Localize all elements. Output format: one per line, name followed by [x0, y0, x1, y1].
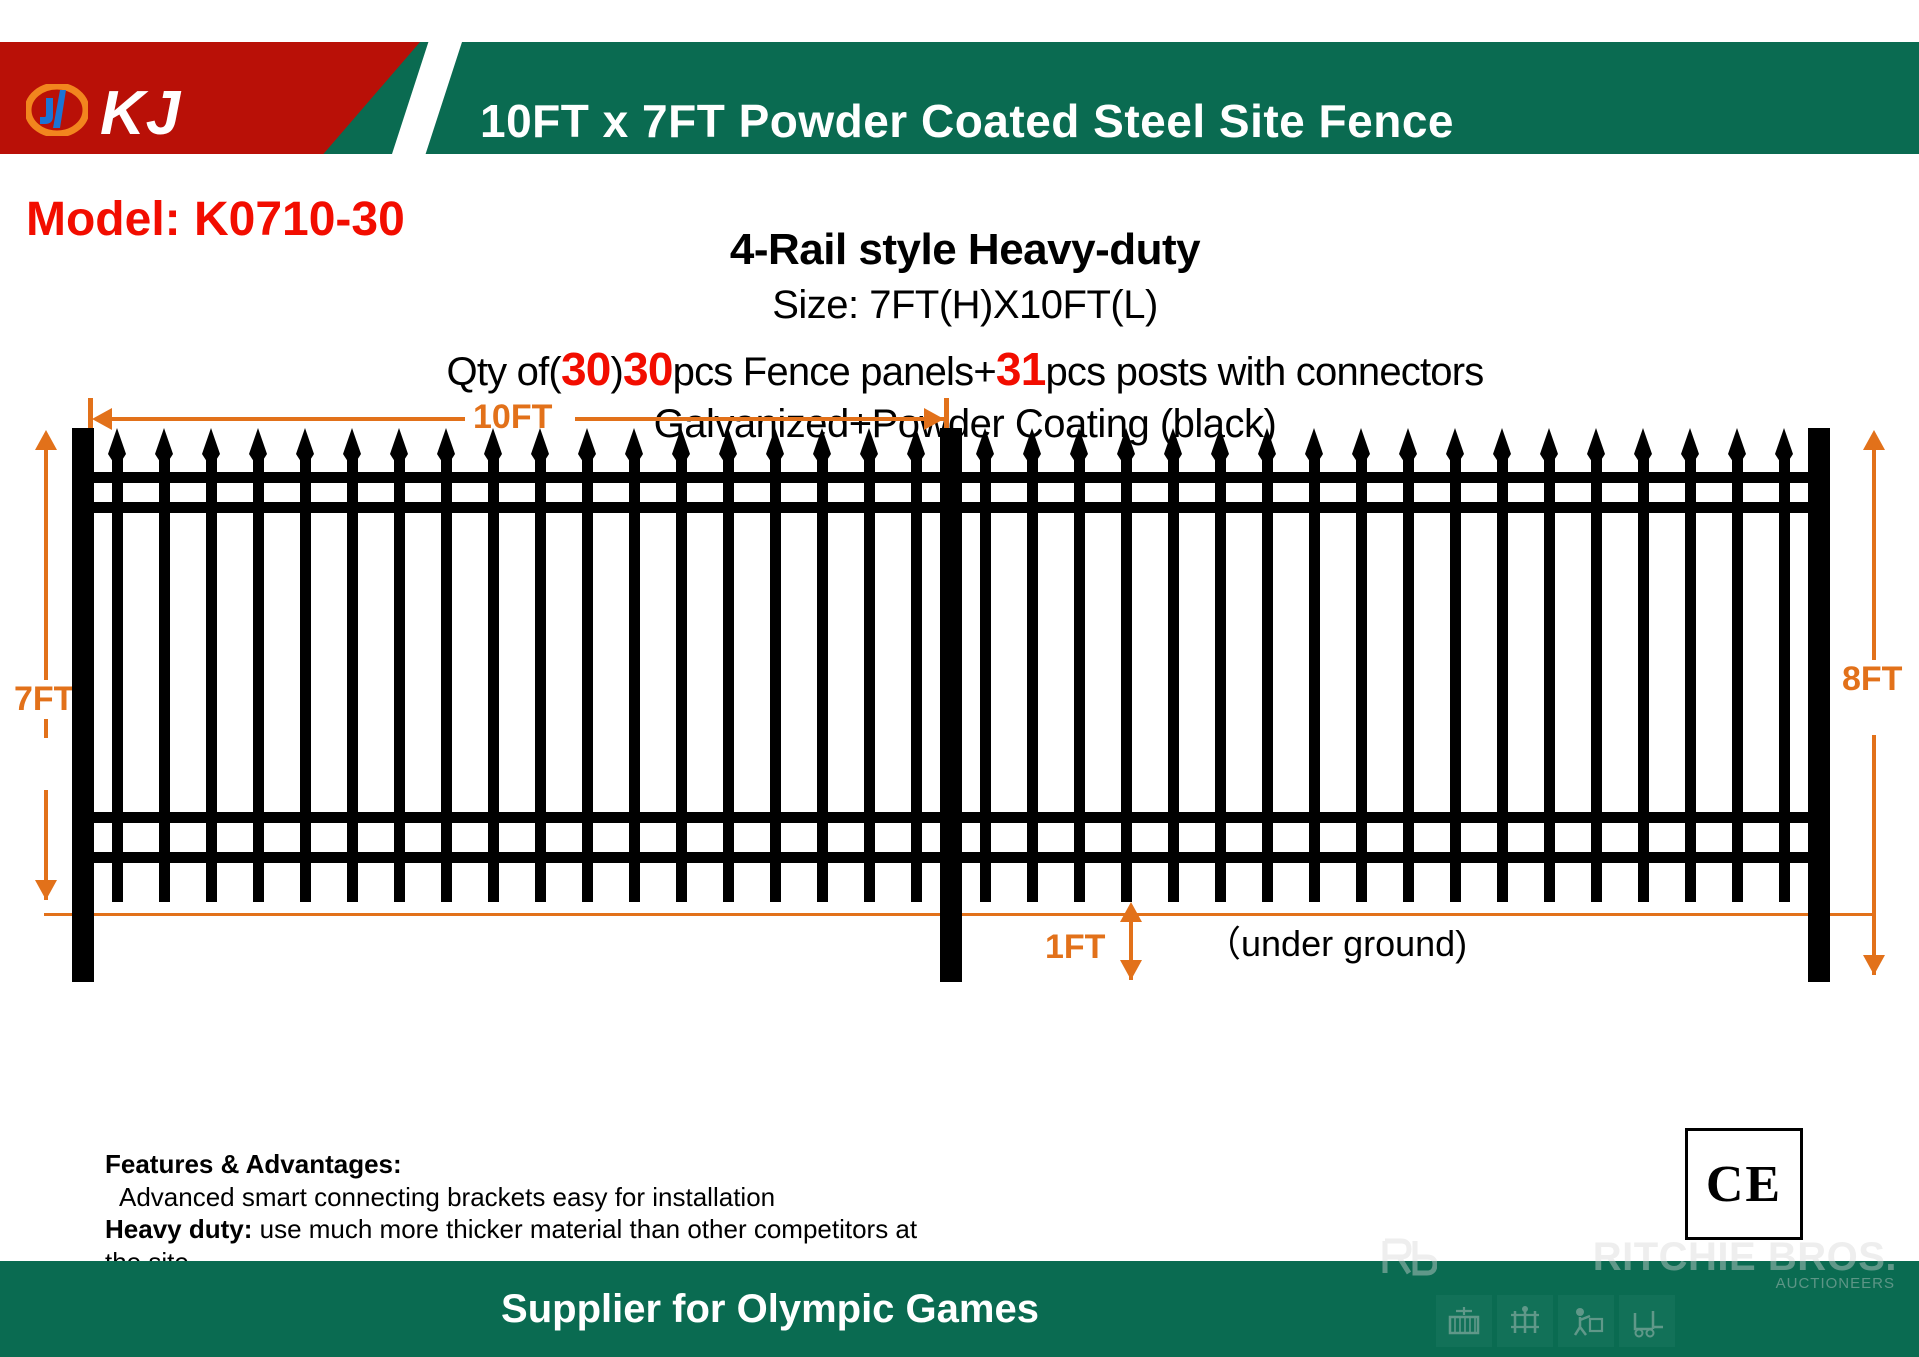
- qty-paren-number: 30: [561, 343, 611, 395]
- picket-spear-tip-p1-6: [343, 428, 361, 454]
- picket-spear-tip-p1-9: [484, 428, 502, 454]
- scaffold-icon: [1497, 1295, 1553, 1347]
- picket-spear-tip-p2-9: [1352, 428, 1370, 454]
- fence-technical-drawing: 10FT 7FT 8FT 1FT （under ground): [0, 390, 1919, 1260]
- fence-picket-stub-p2-16: [1685, 863, 1696, 902]
- fence-post-2: [940, 428, 962, 982]
- dim-arrow-7ft-top: [35, 430, 57, 450]
- fence-picket-stub-p2-5: [1168, 863, 1179, 902]
- fence-picket-p1-10: [535, 452, 546, 852]
- fence-picket-stub-p1-17: [864, 863, 875, 902]
- fence-picket-p2-4: [1121, 452, 1132, 852]
- picket-spear-tip-p2-5: [1164, 428, 1182, 454]
- fence-picket-stub-p2-10: [1403, 863, 1414, 902]
- fence-picket-stub-p2-8: [1309, 863, 1320, 902]
- fence-rail-p1-2: [94, 502, 940, 513]
- picket-spear-tip-p2-3: [1070, 428, 1088, 454]
- fence-picket-stub-p2-7: [1262, 863, 1273, 902]
- fence-picket-stub-p1-1: [112, 863, 123, 902]
- picket-spear-tip-p1-13: [672, 428, 690, 454]
- dim-line-10ft-right: [575, 417, 945, 421]
- fence-picket-stub-p1-9: [488, 863, 499, 902]
- picket-spear-tip-p2-11: [1446, 428, 1464, 454]
- dim-arrow-1ft-bottom: [1120, 960, 1142, 980]
- worker-icon: [1558, 1295, 1614, 1347]
- picket-spear-tip-p2-4: [1117, 428, 1135, 454]
- fence-picket-p2-7: [1262, 452, 1273, 852]
- underground-label: （under ground): [1205, 915, 1467, 967]
- dim-arrow-10ft-left: [92, 408, 112, 430]
- fence-rail-p2-3: [962, 812, 1808, 823]
- dim-arrow-8ft-top: [1863, 430, 1885, 450]
- fence-picket-p1-15: [770, 452, 781, 852]
- fence-picket-stub-p1-11: [582, 863, 593, 902]
- dim-arrow-1ft-top: [1120, 902, 1142, 922]
- fence-picket-p2-12: [1497, 452, 1508, 852]
- ce-mark-text: CE: [1706, 1155, 1782, 1214]
- qty-mid-text: pcs Fence panels+: [673, 350, 996, 394]
- picket-spear-tip-p2-16: [1681, 428, 1699, 454]
- fence-picket-p1-17: [864, 452, 875, 852]
- picket-spear-tip-p2-18: [1775, 428, 1793, 454]
- fence-picket-stub-p1-7: [394, 863, 405, 902]
- features-title: Features & Advantages:: [105, 1148, 945, 1181]
- fence-picket-p2-3: [1074, 452, 1085, 852]
- fence-post-1: [72, 428, 94, 982]
- fence-picket-stub-p2-11: [1450, 863, 1461, 902]
- fence-picket-p2-6: [1215, 452, 1226, 852]
- features-line-brackets: Advanced smart connecting brackets easy …: [105, 1181, 945, 1214]
- features-block: Features & Advantages: Advanced smart co…: [105, 1148, 945, 1278]
- fence-picket-stub-p1-8: [441, 863, 452, 902]
- fence-rail-p1-4: [94, 852, 940, 863]
- picket-spear-tip-p2-7: [1258, 428, 1276, 454]
- forklift-icon: [1619, 1295, 1675, 1347]
- picket-spear-tip-p2-1: [976, 428, 994, 454]
- watermark-subtitle: AUCTIONEERS: [1776, 1275, 1895, 1292]
- fence-picket-stub-p1-4: [253, 863, 264, 902]
- picket-spear-tip-p2-15: [1634, 428, 1652, 454]
- fence-rail-p1-3: [94, 812, 940, 823]
- fence-picket-stub-p2-2: [1027, 863, 1038, 902]
- watermark-title: RITCHIE BROS.: [1593, 1235, 1897, 1280]
- picket-spear-tip-p1-10: [531, 428, 549, 454]
- dim-label-1ft: 1FT: [1045, 928, 1105, 967]
- fence-picket-p2-13: [1544, 452, 1555, 852]
- qty-panel-number: 30: [623, 343, 673, 395]
- dim-arrow-10ft-right: [924, 408, 944, 430]
- page-title: 10FT x 7FT Powder Coated Steel Site Fenc…: [480, 94, 1880, 148]
- picket-spear-tip-p1-7: [390, 428, 408, 454]
- container-icon: [1436, 1295, 1492, 1347]
- picket-spear-tip-p2-12: [1493, 428, 1511, 454]
- kj-ellipse-logo-icon: [26, 84, 88, 136]
- dim-arrow-7ft-bottom: [35, 880, 57, 900]
- fence-picket-p2-11: [1450, 452, 1461, 852]
- fence-picket-p2-5: [1168, 452, 1179, 852]
- picket-spear-tip-p2-10: [1399, 428, 1417, 454]
- picket-spear-tip-p1-15: [766, 428, 784, 454]
- fence-picket-p1-11: [582, 452, 593, 852]
- page-header: KJ 10FT x 7FT Powder Coated Steel Site F…: [0, 42, 1919, 154]
- fence-picket-p2-18: [1779, 452, 1790, 852]
- brand-text: KJ: [100, 78, 181, 149]
- picket-spear-tip-p2-14: [1587, 428, 1605, 454]
- picket-spear-tip-p1-5: [296, 428, 314, 454]
- fence-picket-stub-p1-15: [770, 863, 781, 902]
- fence-picket-stub-p2-18: [1779, 863, 1790, 902]
- picket-spear-tip-p1-3: [202, 428, 220, 454]
- fence-picket-p1-9: [488, 452, 499, 852]
- spec-size-line: Size: 7FT(H)X10FT(L): [300, 283, 1630, 328]
- fence-picket-p2-16: [1685, 452, 1696, 852]
- qty-post-number: 31: [996, 343, 1046, 395]
- fence-picket-p1-5: [300, 452, 311, 852]
- picket-spear-tip-p2-8: [1305, 428, 1323, 454]
- fence-post-3: [1808, 428, 1830, 982]
- picket-spear-tip-p2-17: [1728, 428, 1746, 454]
- rb-logo-icon: [1381, 1237, 1437, 1277]
- fence-picket-p1-4: [253, 452, 264, 852]
- fence-picket-stub-p1-18: [911, 863, 922, 902]
- picket-spear-tip-p1-17: [860, 428, 878, 454]
- fence-rail-p1-1: [94, 472, 940, 483]
- fence-picket-p2-10: [1403, 452, 1414, 852]
- fence-picket-p1-12: [629, 452, 640, 852]
- fence-rail-p2-1: [962, 472, 1808, 483]
- fence-picket-stub-p1-5: [300, 863, 311, 902]
- footer-slogan: Supplier for Olympic Games: [0, 1261, 1540, 1357]
- fence-picket-p1-2: [159, 452, 170, 852]
- dim-label-7ft: 7FT: [14, 680, 74, 719]
- heavy-duty-label: Heavy duty:: [105, 1214, 252, 1244]
- fence-picket-stub-p1-12: [629, 863, 640, 902]
- fence-picket-stub-p2-1: [980, 863, 991, 902]
- fence-picket-p1-14: [723, 452, 734, 852]
- fence-picket-stub-p1-3: [206, 863, 217, 902]
- ground-line-left: [44, 913, 1129, 916]
- fence-picket-stub-p2-15: [1638, 863, 1649, 902]
- dim-arrow-8ft-bottom: [1863, 955, 1885, 975]
- dim-line-10ft-left: [110, 417, 465, 421]
- spec-quantity-line: Qty of(30)30pcs Fence panels+31pcs posts…: [300, 342, 1630, 396]
- qty-close-paren: ): [611, 350, 624, 394]
- fence-picket-stub-p2-14: [1591, 863, 1602, 902]
- fence-picket-p1-6: [347, 452, 358, 852]
- fence-picket-p2-15: [1638, 452, 1649, 852]
- fence-picket-stub-p2-4: [1121, 863, 1132, 902]
- dim-label-8ft: 8FT: [1842, 660, 1902, 699]
- picket-spear-tip-p1-8: [437, 428, 455, 454]
- fence-picket-stub-p2-6: [1215, 863, 1226, 902]
- fence-picket-stub-p2-12: [1497, 863, 1508, 902]
- fence-picket-p1-3: [206, 452, 217, 852]
- fence-picket-stub-p2-13: [1544, 863, 1555, 902]
- fence-picket-p2-8: [1309, 452, 1320, 852]
- picket-spear-tip-p1-11: [578, 428, 596, 454]
- ritchie-bros-watermark: RITCHIE BROS. AUCTIONEERS: [1345, 1229, 1905, 1353]
- picket-spear-tip-p2-2: [1023, 428, 1041, 454]
- fence-picket-stub-p1-13: [676, 863, 687, 902]
- fence-picket-p2-17: [1732, 452, 1743, 852]
- dim-line-8ft-lower: [1872, 735, 1876, 975]
- page-footer: Supplier for Olympic Games RITCHIE BROS.…: [0, 1261, 1919, 1357]
- fence-picket-stub-p2-9: [1356, 863, 1367, 902]
- fence-picket-stub-p2-17: [1732, 863, 1743, 902]
- fence-picket-p1-8: [441, 452, 452, 852]
- fence-rail-p2-4: [962, 852, 1808, 863]
- fence-picket-p2-1: [980, 452, 991, 852]
- fence-picket-p1-16: [817, 452, 828, 852]
- fence-picket-p1-1: [112, 452, 123, 852]
- fence-picket-stub-p1-10: [535, 863, 546, 902]
- picket-spear-tip-p1-1: [108, 428, 126, 454]
- fence-picket-stub-p1-2: [159, 863, 170, 902]
- fence-picket-p2-9: [1356, 452, 1367, 852]
- qty-suffix-text: pcs posts with connectors: [1045, 350, 1483, 394]
- picket-spear-tip-p1-14: [719, 428, 737, 454]
- fence-picket-p2-14: [1591, 452, 1602, 852]
- fence-picket-stub-p1-14: [723, 863, 734, 902]
- fence-picket-stub-p1-6: [347, 863, 358, 902]
- picket-spear-tip-p1-4: [249, 428, 267, 454]
- ce-mark-box: CE: [1685, 1128, 1803, 1240]
- fence-picket-stub-p2-3: [1074, 863, 1085, 902]
- fence-picket-p1-18: [911, 452, 922, 852]
- picket-spear-tip-p2-13: [1540, 428, 1558, 454]
- fence-picket-stub-p1-16: [817, 863, 828, 902]
- picket-spear-tip-p1-12: [625, 428, 643, 454]
- qty-prefix: Qty of(: [447, 350, 561, 394]
- picket-spear-tip-p1-18: [907, 428, 925, 454]
- fence-picket-p2-2: [1027, 452, 1038, 852]
- fence-picket-p1-7: [394, 452, 405, 852]
- fence-rail-p2-2: [962, 502, 1808, 513]
- picket-spear-tip-p1-16: [813, 428, 831, 454]
- watermark-icon-row: [1436, 1295, 1675, 1347]
- spec-style-line: 4-Rail style Heavy-duty: [300, 225, 1630, 275]
- dim-line-8ft-upper: [1872, 438, 1876, 678]
- fence-picket-p1-13: [676, 452, 687, 852]
- picket-spear-tip-p2-6: [1211, 428, 1229, 454]
- picket-spear-tip-p1-2: [155, 428, 173, 454]
